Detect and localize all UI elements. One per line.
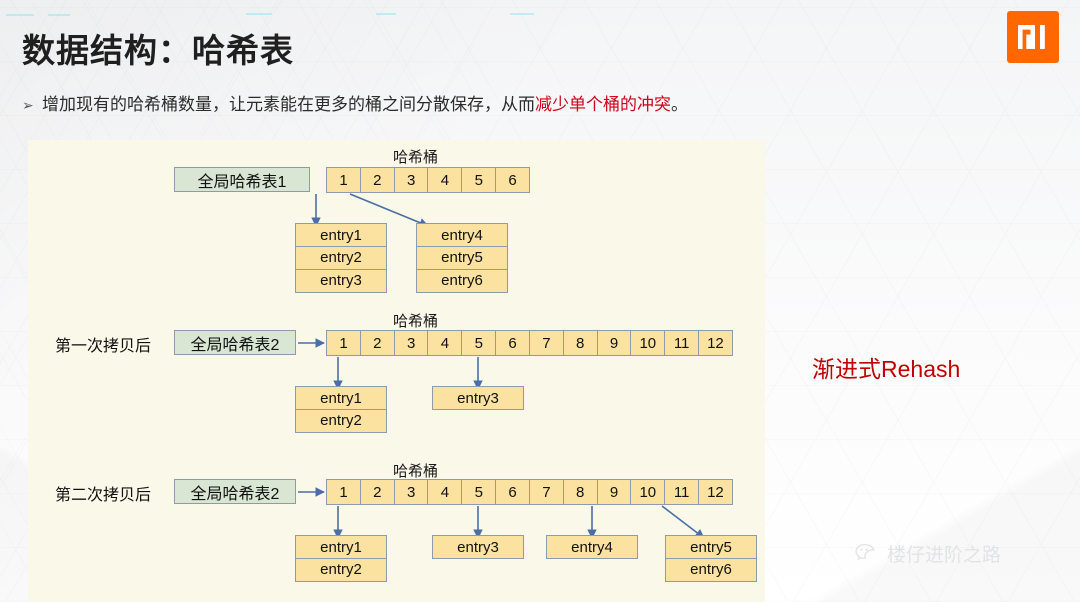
bucket-cell[interactable]: 2	[360, 167, 395, 193]
bucket-array-row-1: 1 2 3 4 5 6	[326, 167, 530, 193]
bucket-cell[interactable]: 7	[529, 330, 564, 356]
bucket-cell[interactable]: 7	[529, 479, 564, 505]
entry-cell[interactable]: entry4	[546, 535, 638, 559]
bullet-text-before: 增加现有的哈希桶数量，让元素能在更多的桶之间分散保存，从而	[42, 95, 535, 114]
entry-cell[interactable]: entry6	[416, 269, 508, 293]
bucket-cell[interactable]: 4	[427, 330, 462, 356]
bucket-cell[interactable]: 9	[597, 479, 632, 505]
entry-stack: entry1 entry2 entry3	[295, 223, 387, 293]
entry-stack: entry4 entry5 entry6	[416, 223, 508, 293]
bucket-caption: 哈希桶	[393, 146, 438, 167]
entry-cell[interactable]: entry3	[432, 386, 524, 410]
global-hash-table-2: 全局哈希表2	[174, 330, 296, 355]
entry-cell[interactable]: entry2	[295, 246, 387, 270]
entry-stack: entry1 entry2	[295, 535, 387, 582]
bucket-cell[interactable]: 12	[698, 479, 733, 505]
bucket-cell[interactable]: 4	[427, 167, 462, 193]
decorative-accent-tick	[376, 13, 396, 15]
bucket-caption: 哈希桶	[393, 460, 438, 481]
entry-cell[interactable]: entry1	[295, 223, 387, 247]
entry-stack: entry5 entry6	[665, 535, 757, 582]
rehash-annotation: 渐进式Rehash	[812, 350, 960, 384]
entry-cell[interactable]: entry5	[665, 535, 757, 559]
bullet-text-after: 。	[671, 95, 688, 114]
watermark-text: 楼仔进阶之路	[887, 540, 1001, 567]
arrow-layer	[28, 140, 765, 602]
bucket-cell[interactable]: 5	[461, 479, 496, 505]
bullet-line: ➢增加现有的哈希桶数量，让元素能在更多的桶之间分散保存，从而减少单个桶的冲突。	[22, 90, 1022, 115]
bucket-array-row-2: 1 2 3 4 5 6 7 8 9 10 11 12	[326, 330, 733, 356]
bucket-cell[interactable]: 10	[630, 330, 665, 356]
page-title: 数据结构：哈希表	[22, 24, 294, 72]
decorative-accent-tick	[48, 14, 70, 16]
entry-cell[interactable]: entry4	[416, 223, 508, 247]
bucket-array-row-3: 1 2 3 4 5 6 7 8 9 10 11 12	[326, 479, 733, 505]
bucket-cell[interactable]: 3	[394, 330, 429, 356]
bucket-cell[interactable]: 6	[495, 167, 530, 193]
bucket-cell[interactable]: 11	[664, 479, 699, 505]
entry-stack: entry3	[432, 386, 524, 410]
bucket-cell[interactable]: 4	[427, 479, 462, 505]
bucket-cell[interactable]: 11	[664, 330, 699, 356]
bucket-cell[interactable]: 12	[698, 330, 733, 356]
bucket-cell[interactable]: 8	[563, 479, 598, 505]
bucket-cell[interactable]: 1	[326, 167, 361, 193]
row-label-first-copy: 第一次拷贝后	[55, 332, 151, 356]
bucket-cell[interactable]: 6	[495, 330, 530, 356]
bucket-cell[interactable]: 10	[630, 479, 665, 505]
entry-cell[interactable]: entry2	[295, 409, 387, 433]
bullet-text-highlight: 减少单个桶的冲突	[535, 95, 671, 114]
bucket-cell[interactable]: 1	[326, 330, 361, 356]
global-hash-table-2: 全局哈希表2	[174, 479, 296, 504]
bucket-cell[interactable]: 5	[461, 167, 496, 193]
bucket-cell[interactable]: 2	[360, 330, 395, 356]
bucket-cell[interactable]: 6	[495, 479, 530, 505]
bucket-cell[interactable]: 9	[597, 330, 632, 356]
mi-logo	[1007, 11, 1059, 63]
bucket-cell[interactable]: 2	[360, 479, 395, 505]
decorative-accent-tick	[6, 14, 34, 16]
entry-cell[interactable]: entry2	[295, 558, 387, 582]
mi-logo-glyph	[1018, 25, 1048, 49]
bucket-cell[interactable]: 1	[326, 479, 361, 505]
entry-cell[interactable]: entry6	[665, 558, 757, 582]
entry-cell[interactable]: entry1	[295, 535, 387, 559]
bucket-cell[interactable]: 3	[394, 167, 429, 193]
entry-cell[interactable]: entry3	[295, 269, 387, 293]
entry-stack: entry1 entry2	[295, 386, 387, 433]
decorative-accent-tick	[510, 13, 534, 15]
decorative-accent-tick	[246, 13, 272, 15]
entry-cell[interactable]: entry1	[295, 386, 387, 410]
entry-stack: entry3	[432, 535, 524, 559]
bullet-marker-icon: ➢	[22, 97, 42, 114]
bucket-cell[interactable]: 3	[394, 479, 429, 505]
entry-cell[interactable]: entry5	[416, 246, 508, 270]
global-hash-table-1: 全局哈希表1	[174, 167, 310, 192]
watermark: 楼仔进阶之路	[855, 540, 1001, 567]
entry-cell[interactable]: entry3	[432, 535, 524, 559]
row-label-second-copy: 第二次拷贝后	[55, 481, 151, 505]
bucket-cell[interactable]: 5	[461, 330, 496, 356]
wechat-icon	[855, 543, 881, 565]
bucket-cell[interactable]: 8	[563, 330, 598, 356]
entry-stack: entry4	[546, 535, 638, 559]
hash-rehash-diagram: 哈希桶 全局哈希表1 1 2 3 4 5 6 entry1 entry2 ent…	[28, 140, 765, 602]
bucket-caption: 哈希桶	[393, 310, 438, 331]
